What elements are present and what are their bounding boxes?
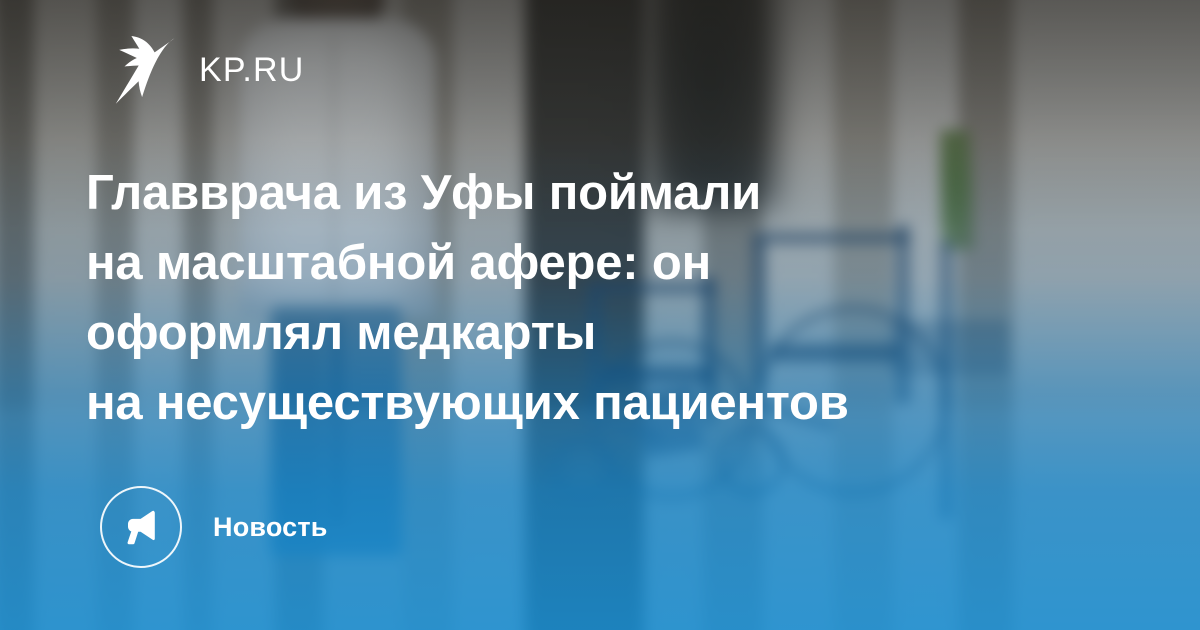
headline-line-1: Главврача из Уфы поймали [86,158,1096,228]
headline: Главврача из Уфы поймали на масштабной а… [86,158,1096,438]
news-type-badge[interactable]: Новость [100,486,328,568]
headline-line-2: на масштабной афере: он [86,228,1096,298]
news-share-card: KP.RU Главврача из Уфы поймали на масшта… [0,0,1200,630]
badge-label: Новость [213,514,328,541]
kp-swallow-bird-logo-icon [113,36,175,104]
headline-line-3: оформлял медкарты [86,298,1096,368]
brand-wordmark: KP.RU [199,53,305,87]
megaphone-icon [121,507,161,547]
badge-circle [100,486,182,568]
card-content: KP.RU Главврача из Уфы поймали на масшта… [0,0,1200,630]
brand-lockup[interactable]: KP.RU [113,36,305,104]
headline-line-4: на несуществующих пациентов [86,368,1096,438]
